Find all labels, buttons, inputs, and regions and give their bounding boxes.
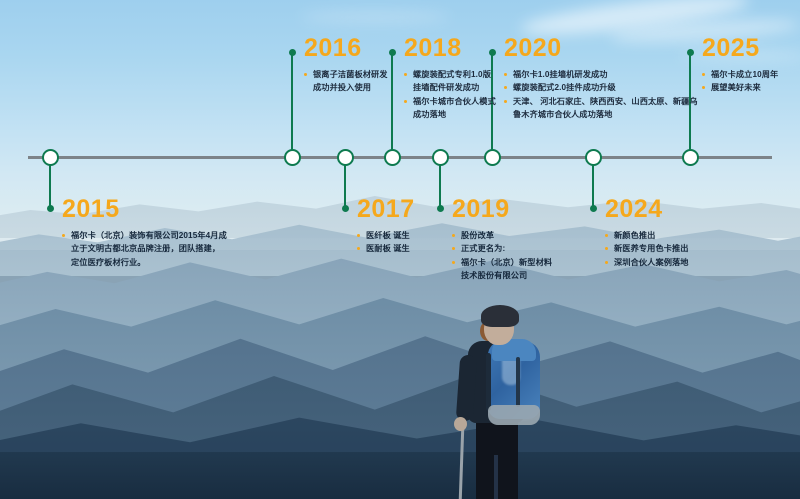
milestone-2025[interactable]: 2025福尔卡成立10周年展望美好未来	[702, 36, 800, 95]
milestone-bullet: 新医养专用色卡推出	[605, 242, 715, 255]
timeline-stem-2016	[291, 52, 294, 157]
milestone-bullet: 新颜色推出	[605, 229, 715, 242]
milestone-bullets-2017: 医纤板 诞生医耐板 诞生	[357, 229, 467, 256]
milestone-2015[interactable]: 2015福尔卡（北京）装饰有限公司2015年4月成立于文明古都北京品牌注册，团队…	[62, 197, 227, 269]
timeline-node-2020[interactable]	[484, 149, 501, 166]
milestone-bullet: 正式更名为:	[452, 242, 557, 255]
milestone-bullet: 福尔卡城市合伙人模式成功落地	[404, 95, 499, 122]
milestone-bullet: 福尔卡成立10周年	[702, 68, 800, 81]
stem-cap-2017	[342, 205, 349, 212]
milestone-bullets-2016: 银离子洁菌板材研发成功并投入使用	[304, 68, 394, 95]
trekking-pole	[459, 425, 465, 499]
backpack-base	[488, 405, 540, 425]
timeline-node-2016[interactable]	[284, 149, 301, 166]
milestone-bullet: 展望美好未来	[702, 81, 800, 94]
milestone-bullet: 天津、 河北石家庄、陕西西安、山西太原、新疆乌鲁木齐城市合伙人成功落地	[504, 95, 699, 122]
milestone-bullet: 医耐板 诞生	[357, 242, 467, 255]
summit-foreground	[0, 452, 800, 499]
timeline-node-2018[interactable]	[384, 149, 401, 166]
milestone-2016[interactable]: 2016银离子洁菌板材研发成功并投入使用	[304, 36, 394, 95]
backpack-strap	[516, 357, 520, 407]
milestone-year-2025: 2025	[702, 36, 800, 61]
milestone-bullets-2020: 福尔卡1.0挂墙机研发成功螺旋装配式2.0挂件成功升级天津、 河北石家庄、陕西西…	[504, 68, 699, 121]
timeline-node-2024[interactable]	[585, 149, 602, 166]
milestone-year-2018: 2018	[404, 36, 499, 61]
milestone-bullets-2019: 股份改革正式更名为:福尔卡（北京）新型材料技术股份有限公司	[452, 229, 557, 282]
milestone-year-2015: 2015	[62, 197, 227, 222]
milestone-bullet: 股份改革	[452, 229, 557, 242]
hiker-figure	[430, 305, 560, 499]
milestone-2024[interactable]: 2024新颜色推出新医养专用色卡推出深圳合伙人案例落地	[605, 197, 715, 269]
milestone-bullet: 福尔卡1.0挂墙机研发成功	[504, 68, 699, 81]
milestone-year-2024: 2024	[605, 197, 715, 222]
timeline-infographic: 2015福尔卡（北京）装饰有限公司2015年4月成立于文明古都北京品牌注册，团队…	[0, 0, 800, 499]
milestone-bullet: 医纤板 诞生	[357, 229, 467, 242]
cloud-wisp	[300, 10, 450, 24]
milestone-bullet: 福尔卡（北京）新型材料技术股份有限公司	[452, 256, 557, 283]
milestone-bullets-2024: 新颜色推出新医养专用色卡推出深圳合伙人案例落地	[605, 229, 715, 269]
backpack-strap	[486, 353, 491, 411]
milestone-bullet: 螺旋装配式专利1.0版挂墙配件研发成功	[404, 68, 499, 95]
timeline-node-2019[interactable]	[432, 149, 449, 166]
stem-cap-2024	[590, 205, 597, 212]
milestone-2017[interactable]: 2017医纤板 诞生医耐板 诞生	[357, 197, 467, 256]
milestone-year-2017: 2017	[357, 197, 467, 222]
milestone-2020[interactable]: 2020福尔卡1.0挂墙机研发成功螺旋装配式2.0挂件成功升级天津、 河北石家庄…	[504, 36, 699, 121]
timeline-node-2015[interactable]	[42, 149, 59, 166]
milestone-bullet: 银离子洁菌板材研发成功并投入使用	[304, 68, 394, 95]
timeline-node-2017[interactable]	[337, 149, 354, 166]
hiker-hand	[454, 417, 467, 431]
milestone-2018[interactable]: 2018螺旋装配式专利1.0版挂墙配件研发成功福尔卡城市合伙人模式成功落地	[404, 36, 499, 121]
milestone-bullets-2025: 福尔卡成立10周年展望美好未来	[702, 68, 800, 95]
milestone-bullets-2018: 螺旋装配式专利1.0版挂墙配件研发成功福尔卡城市合伙人模式成功落地	[404, 68, 499, 121]
milestone-year-2019: 2019	[452, 197, 557, 222]
milestone-2019[interactable]: 2019股份改革正式更名为:福尔卡（北京）新型材料技术股份有限公司	[452, 197, 557, 282]
milestone-year-2016: 2016	[304, 36, 394, 61]
stem-cap-2016	[289, 49, 296, 56]
milestone-bullets-2015: 福尔卡（北京）装饰有限公司2015年4月成立于文明古都北京品牌注册，团队搭建，定…	[62, 229, 227, 269]
stem-cap-2015	[47, 205, 54, 212]
milestone-bullet: 福尔卡（北京）装饰有限公司2015年4月成立于文明古都北京品牌注册，团队搭建，定…	[62, 229, 227, 269]
milestone-bullet: 深圳合伙人案例落地	[605, 256, 715, 269]
hiker-leg-gap	[494, 455, 498, 499]
timeline-node-2025[interactable]	[682, 149, 699, 166]
milestone-year-2020: 2020	[504, 36, 699, 61]
milestone-bullet: 螺旋装配式2.0挂件成功升级	[504, 81, 699, 94]
hiker-beanie	[481, 305, 519, 327]
